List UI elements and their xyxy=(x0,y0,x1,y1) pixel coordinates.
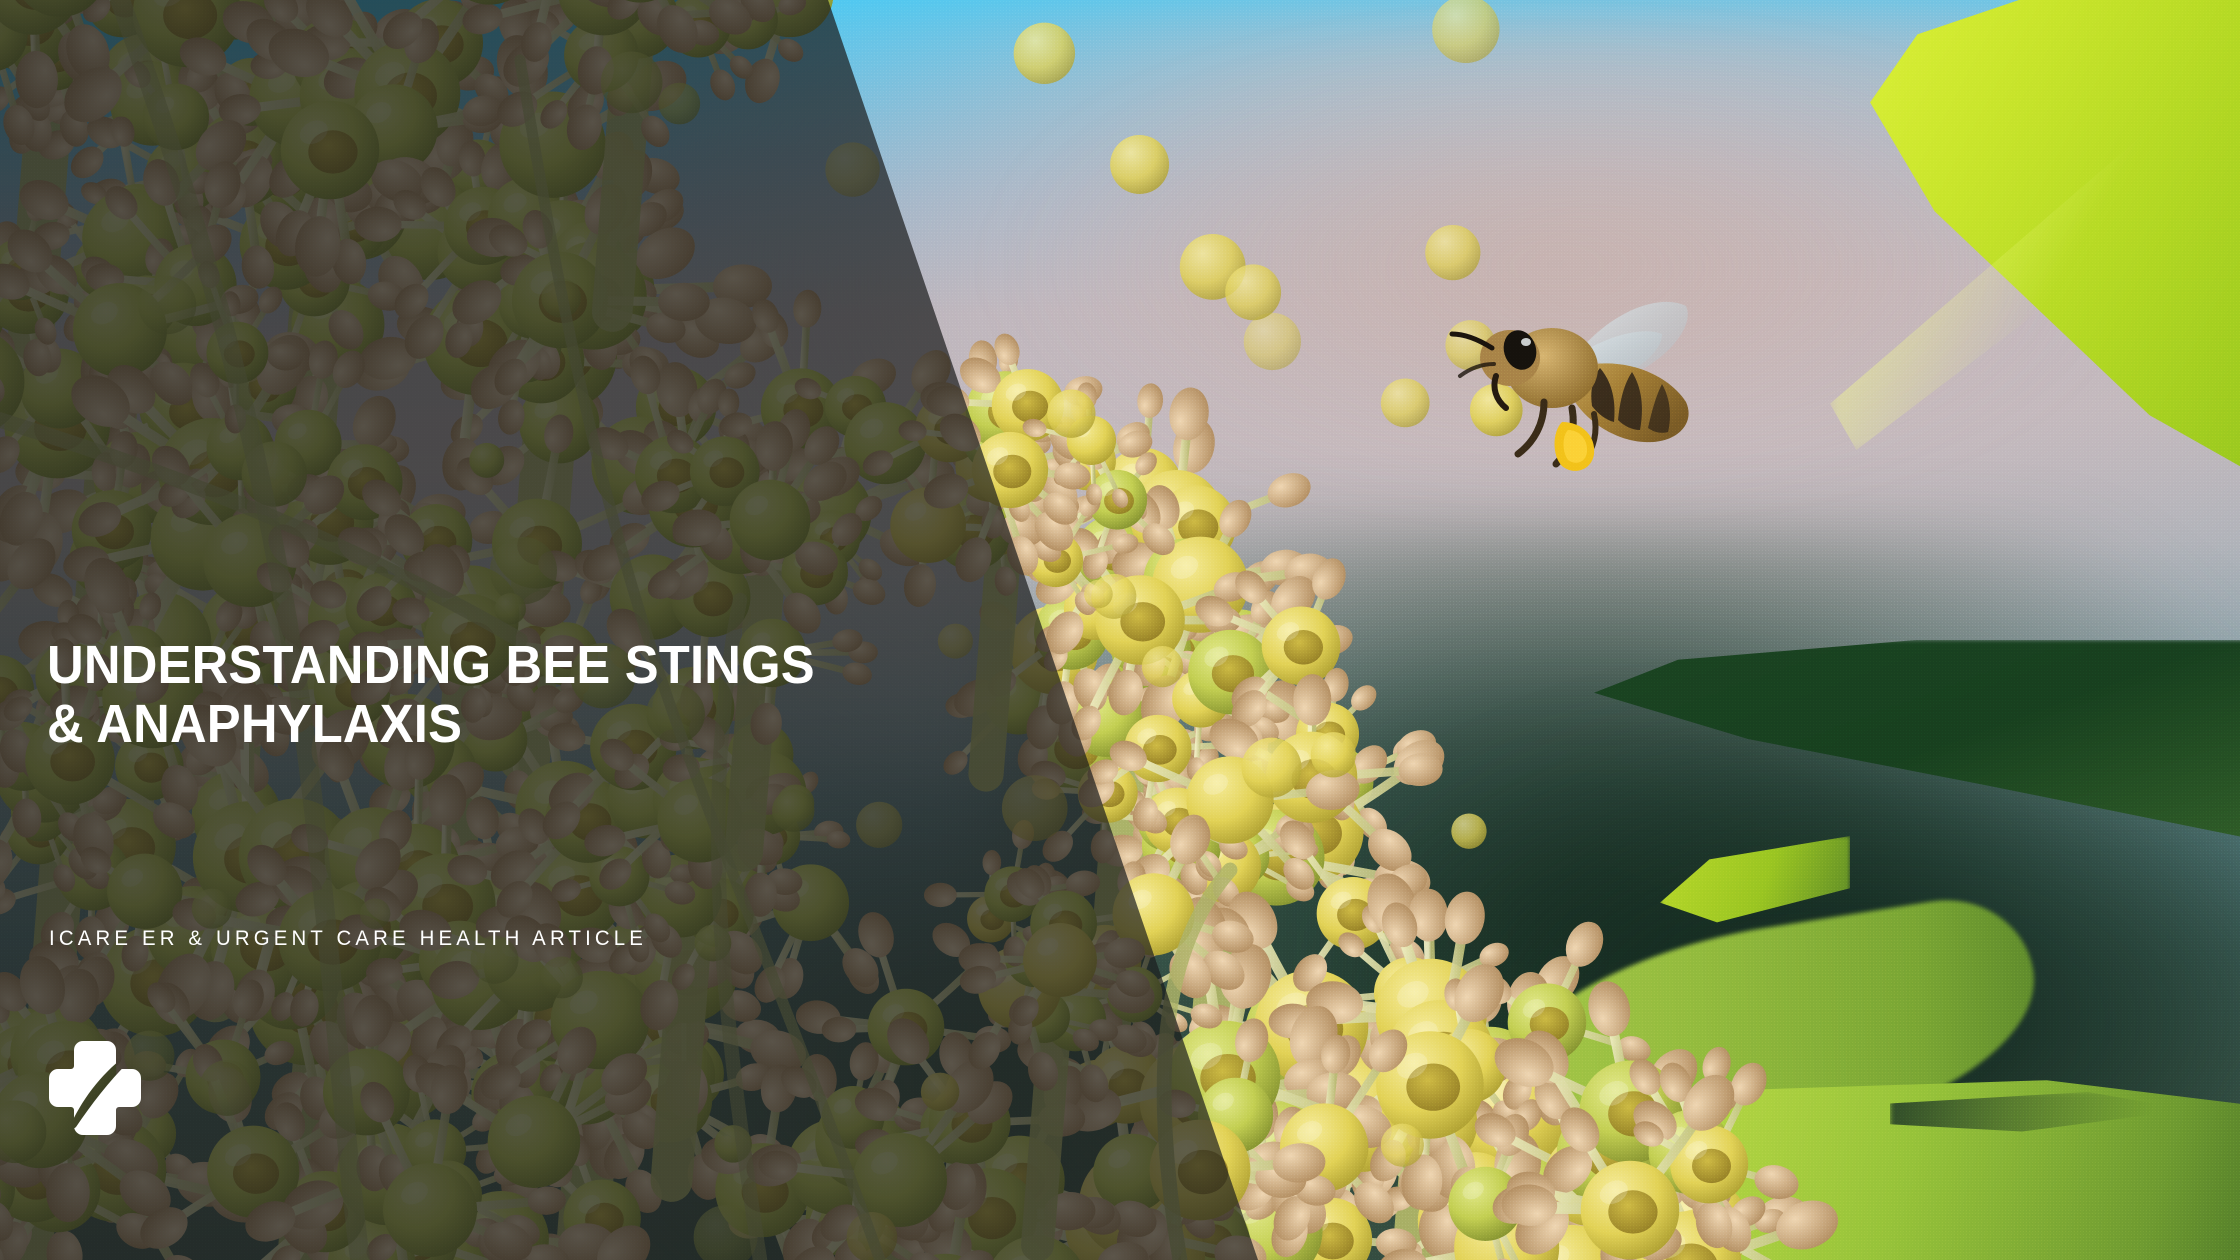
banner-content: Understanding Bee Stings & Anaphylaxis i… xyxy=(47,0,1047,1260)
banner-subtitle: iCare ER & Urgent Care Health Article xyxy=(49,925,647,953)
page-title: Understanding Bee Stings & Anaphylaxis xyxy=(47,636,815,754)
article-hero-banner: Understanding Bee Stings & Anaphylaxis i… xyxy=(0,0,2240,1260)
icare-medical-cross-logo[interactable] xyxy=(49,1038,141,1136)
bee-illustration xyxy=(1448,272,1708,502)
